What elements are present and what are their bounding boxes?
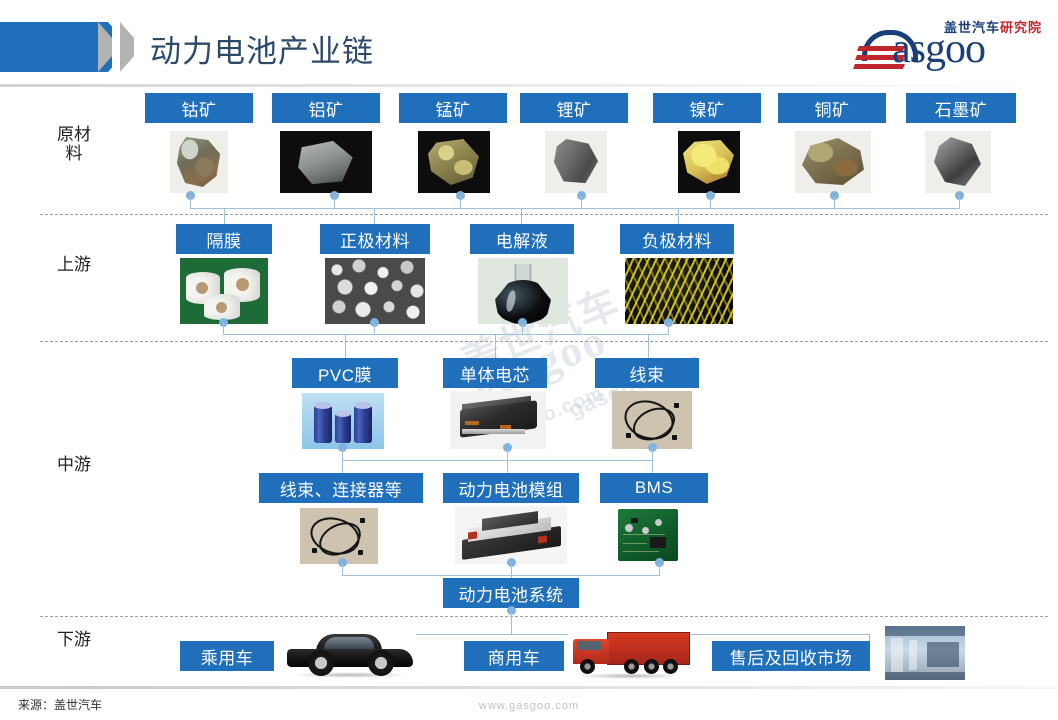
header-divider [0,84,1058,87]
node-box-electrolyte[interactable]: 电解液 [470,224,574,254]
connector-line [345,334,346,358]
connector-line [223,323,224,334]
chevron-mask [112,22,120,72]
lithium-ore-image [545,131,607,193]
harness-connector-image [300,508,378,564]
node-box-manganese-ore[interactable]: 锰矿 [399,93,507,123]
connector-line [342,448,343,460]
gasgoo-logo: 盖世汽车研究院 asgoo [854,16,1044,78]
connector-line [190,196,191,208]
section-divider [40,341,1048,342]
cobalt-ore-image [170,131,228,193]
connector-line [652,460,653,473]
connector-line [668,323,669,334]
node-box-battery-system[interactable]: 动力电池系统 [443,578,579,608]
section-divider [40,616,1048,617]
node-box-passenger-car[interactable]: 乘用车 [180,641,274,671]
chevron-mask [134,22,142,72]
node-box-nickel-ore[interactable]: 镍矿 [653,93,761,123]
logo-wordmark: asgoo [892,28,985,70]
node-box-copper-ore[interactable]: 铜矿 [778,93,886,123]
pvc-film-cells-image [302,393,384,449]
separator-film-image [180,258,268,324]
slide-canvas: 盖世汽车 gasgoo gasgoo.com gasgoo.com 动力电池产业… [0,0,1058,720]
footer-divider [0,686,1058,689]
aluminum-ore-image [280,131,372,193]
connector-line [659,563,660,575]
connector-line [374,323,375,334]
stage-label-upstream: 上游 [52,255,96,274]
connector-bus [223,334,669,335]
node-box-commercial-vehicle[interactable]: 商用车 [464,641,564,671]
connector-line [511,611,512,635]
connector-line [581,196,582,208]
connector-bus [342,575,660,576]
node-box-battery-module[interactable]: 动力电池模组 [443,473,579,503]
connector-line [342,563,343,575]
node-box-wiring-harness[interactable]: 线束 [595,358,699,388]
header-blue-bar [0,22,108,72]
connector-line [834,196,835,208]
electrolyte-flask-image [478,258,568,324]
connector-line [334,196,335,208]
node-box-graphite-ore[interactable]: 石墨矿 [906,93,1016,123]
node-box-anode-material[interactable]: 负极材料 [620,224,734,254]
stage-label-midstream: 中游 [52,455,96,474]
connector-line [495,334,496,358]
graphite-ore-image [925,131,991,193]
battery-cell-image [450,391,546,449]
connector-line [511,563,512,575]
connector-line [710,196,711,208]
node-box-pvc-film[interactable]: PVC膜 [292,358,398,388]
node-box-bms[interactable]: BMS [600,473,708,503]
anode-material-image [625,258,733,324]
node-box-cathode-material[interactable]: 正极材料 [320,224,430,254]
copper-ore-image [795,131,871,193]
stage-label-downstream: 下游 [52,630,96,649]
footer-url: www.gasgoo.com [0,700,1058,712]
section-divider [40,214,1048,215]
node-box-aluminum-ore[interactable]: 铝矿 [272,93,380,123]
connector-line [460,196,461,208]
node-box-harness-connectors[interactable]: 线束、连接器等 [259,473,423,503]
page-title: 动力电池产业链 [150,26,374,71]
dealership-image [885,626,965,680]
cathode-powder-image [325,258,425,324]
commercial-truck-image [568,624,690,680]
node-box-battery-cell[interactable]: 单体电芯 [443,358,547,388]
bms-pcb-image [612,506,684,564]
connector-line [522,323,523,334]
nickel-ore-image [678,131,740,193]
logo-cn-red: 研究院 [1000,20,1042,35]
connector-line [342,460,343,473]
node-box-cobalt-ore[interactable]: 钴矿 [145,93,253,123]
wiring-harness-image [612,391,692,449]
connector-line [959,196,960,208]
connector-bus [190,208,960,209]
node-box-lithium-ore[interactable]: 锂矿 [520,93,628,123]
node-box-aftermarket-recycling[interactable]: 售后及回收市场 [712,641,870,671]
connector-line [652,448,653,460]
manganese-ore-image [418,131,490,193]
connector-bus [342,460,653,461]
connector-line [648,334,649,358]
stage-label-raw-materials: 原材料 [52,125,96,163]
node-box-separator[interactable]: 隔膜 [176,224,272,254]
passenger-car-image [284,625,416,679]
battery-module-image [455,506,567,564]
connector-line [507,448,508,460]
connector-line [507,460,508,473]
